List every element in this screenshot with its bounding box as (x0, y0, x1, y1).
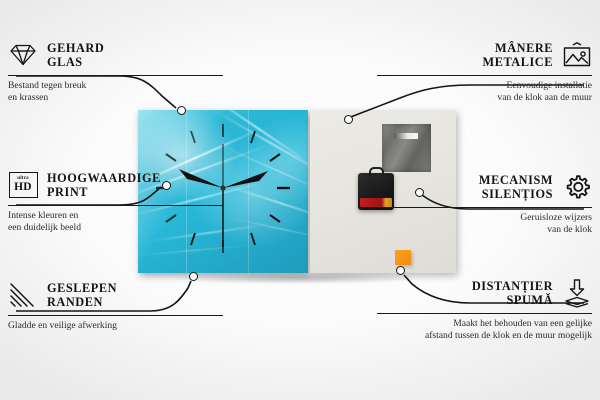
hanger-slot (394, 133, 418, 139)
feature-title: MÂNERE METALICE (483, 41, 553, 69)
feature-title-line2: GLAS (47, 55, 83, 69)
feature-title-line1: GESLEPEN (47, 281, 117, 295)
hd-label: HD (14, 182, 32, 194)
feature-divider (377, 207, 592, 208)
feature-header: MECANISM SILENȚIOS (377, 170, 592, 204)
feature-subtitle-line2: van de klok aan de muur (497, 92, 592, 103)
feature-subtitle-line2: een duidelijk beeld (8, 222, 81, 233)
feature-subtitle-line1: Eenvoudige installatie (506, 80, 592, 91)
feature-gehard-glas: GEHARD GLAS Bestand tegen breuk en krass… (8, 38, 223, 103)
feature-mecanism-silentios: MECANISM SILENȚIOS Geruisloze wijzers va… (377, 170, 592, 235)
feature-subtitle-line1: Intense kleuren en (8, 210, 78, 221)
feature-subtitle: Eenvoudige installatie van de klok aan d… (377, 80, 592, 103)
feature-subtitle-line1: Gladde en veilige afwerking (8, 320, 117, 331)
feature-title: GESLEPEN RANDEN (47, 281, 117, 309)
feature-title: GEHARD GLAS (47, 41, 104, 69)
callout-dot-gehard-glas[interactable] (177, 106, 186, 115)
feature-subtitle: Intense kleuren en een duidelijk beeld (8, 210, 223, 233)
feature-title-line2: METALICE (483, 55, 553, 69)
metal-hanger (382, 124, 431, 172)
feature-title-line1: DISTANȚIER (472, 279, 553, 293)
feature-divider (8, 75, 223, 76)
feature-subtitle: Geruisloze wijzers van de klok (377, 212, 592, 235)
feature-manere-metalice: MÂNERE METALICE Eenvoudige installatie v… (377, 38, 592, 103)
callout-dot-manere-metalice[interactable] (344, 115, 353, 124)
callout-dot-distantier-spuma[interactable] (396, 266, 405, 275)
bevelled-edge-icon (8, 280, 38, 310)
feature-title-line2: PRINT (47, 185, 88, 199)
feature-header: ultra HD HOOGWAARDIGE PRINT (8, 168, 223, 202)
feature-title: MECANISM SILENȚIOS (479, 173, 553, 201)
feature-divider (377, 313, 592, 314)
feature-divider (8, 315, 223, 316)
feature-header: MÂNERE METALICE (377, 38, 592, 72)
feature-subtitle-line1: Maakt het behouden van een gelijke (453, 318, 592, 329)
foam-spacer (395, 250, 411, 265)
feature-title-line2: SPUMĂ (507, 293, 553, 307)
feature-subtitle: Maakt het behouden van een gelijke afsta… (377, 318, 592, 341)
feature-header: GESLEPEN RANDEN (8, 278, 223, 312)
picture-frame-icon (562, 40, 592, 70)
feature-divider (377, 75, 592, 76)
feature-title-line2: RANDEN (47, 295, 103, 309)
feature-title-line2: SILENȚIOS (482, 187, 553, 201)
feature-distantier-spuma: DISTANȚIER SPUMĂ Maakt het behouden van … (377, 276, 592, 341)
feature-subtitle: Bestand tegen breuk en krassen (8, 80, 223, 103)
feature-header: GEHARD GLAS (8, 38, 223, 72)
feature-geslepen-randen: GESLEPEN RANDEN Gladde en veilige afwerk… (8, 278, 223, 332)
diamond-icon (8, 40, 38, 70)
gear-icon (562, 172, 592, 202)
feature-hoogwaardige-print: ultra HD HOOGWAARDIGE PRINT Intense kleu… (8, 168, 223, 233)
feature-title: DISTANȚIER SPUMĂ (472, 279, 553, 307)
feature-subtitle-line2: en krassen (8, 92, 48, 103)
ultra-hd-icon: ultra HD (8, 170, 38, 200)
feature-title-line1: MÂNERE (495, 41, 553, 55)
feature-subtitle-line2: van de klok (547, 224, 592, 235)
feature-divider (8, 205, 223, 206)
feature-title-line1: HOOGWAARDIGE (47, 171, 161, 185)
feature-subtitle-line2: afstand tussen de klok en de muur mogeli… (425, 330, 592, 341)
feature-subtitle-line1: Bestand tegen breuk (8, 80, 86, 91)
feature-header: DISTANȚIER SPUMĂ (377, 276, 592, 310)
feature-subtitle: Gladde en veilige afwerking (8, 320, 223, 332)
feature-title: HOOGWAARDIGE PRINT (47, 171, 161, 199)
feature-subtitle-line1: Geruisloze wijzers (520, 212, 592, 223)
feature-title-line1: GEHARD (47, 41, 104, 55)
infographic-canvas: GEHARD GLAS Bestand tegen breuk en krass… (0, 0, 600, 400)
feature-title-line1: MECANISM (479, 173, 553, 187)
spacer-layers-icon (562, 278, 592, 308)
